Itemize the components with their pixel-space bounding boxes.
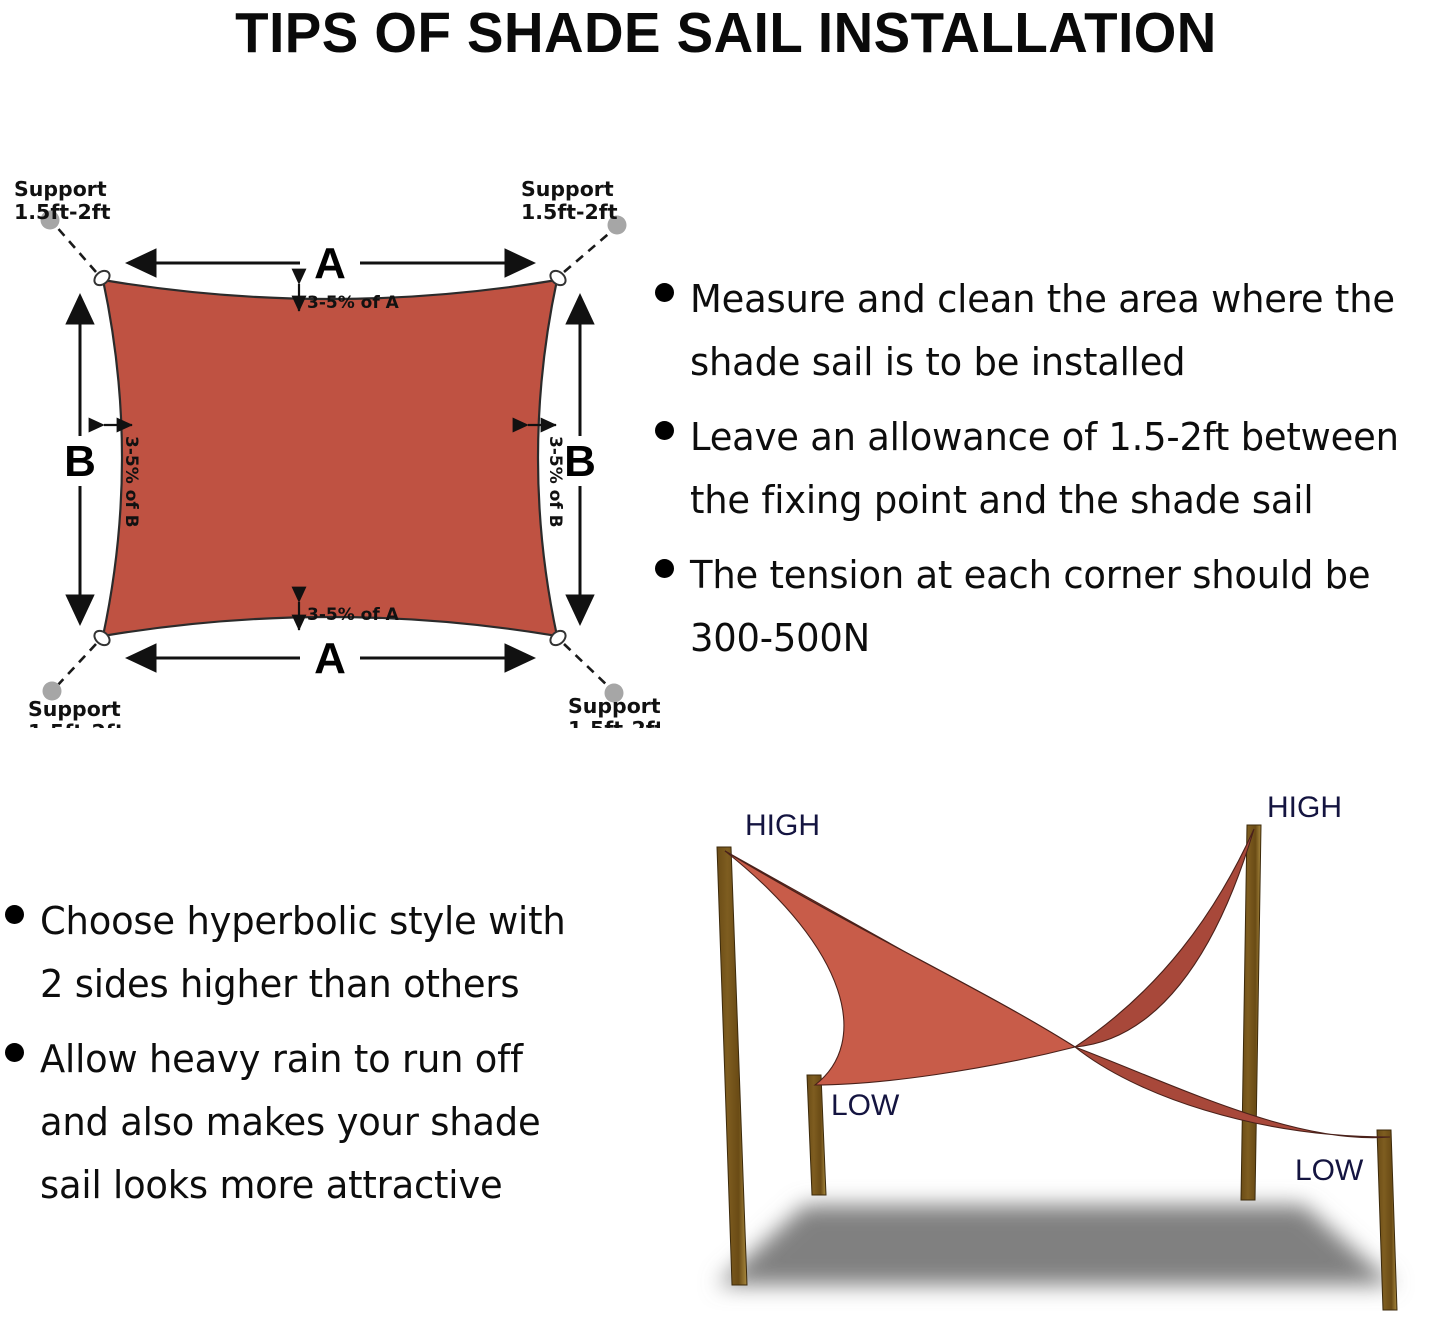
curve-label-left: 3-5% of B	[121, 436, 141, 528]
support-label-line2: 1.5ft-2ft	[28, 720, 125, 728]
ground-shadow	[717, 1205, 1395, 1285]
hyperbolic-style-tips-list: Choose hyperbolic style with 2 sides hig…	[5, 890, 635, 1229]
dimension-arrow-left-b: B	[64, 296, 96, 623]
post-rear-left	[717, 847, 747, 1285]
curve-label-right: 3-5% of B	[545, 436, 565, 528]
post-label-high-right: HIGH	[1267, 791, 1342, 824]
page-title: TIPS OF SHADE SAIL INSTALLATION	[29, 2, 1423, 64]
support-label-line1: Support	[28, 697, 121, 721]
curve-callout-bottom: 3-5% of A	[299, 602, 400, 630]
support-label-line1: Support	[568, 694, 660, 718]
hyperbolic-sail-diagram: HIGH HIGH LOW LOW	[655, 785, 1452, 1325]
dimension-label-b-left: B	[64, 437, 96, 486]
list-item-line: 300-500N	[690, 616, 870, 660]
support-label-top-right: Support 1.5ft-2ft	[521, 177, 618, 224]
support-label-top-left: Support 1.5ft-2ft	[14, 177, 111, 224]
support-label-bottom-left: Support 1.5ft-2ft	[28, 697, 125, 728]
list-item-text: Measure and clean the area where the sha…	[690, 268, 1429, 394]
sail-panel-rear	[725, 829, 1390, 1138]
list-item: The tension at each corner should be 300…	[655, 544, 1452, 670]
list-item-line: and also makes your shade	[40, 1100, 540, 1144]
list-item-line: sail looks more attractive	[40, 1163, 502, 1207]
post-label-low-left: LOW	[831, 1089, 900, 1122]
curve-label-bottom: 3-5% of A	[307, 605, 400, 625]
dimension-arrow-top-a: A	[128, 239, 533, 288]
bullet-dot-icon	[5, 1043, 24, 1062]
list-item-line: The tension at each corner should be	[690, 553, 1370, 597]
list-item-line: Choose hyperbolic style with	[40, 899, 565, 943]
rectangular-sail-diagram: Support 1.5ft-2ft Support 1.5ft-2ft Supp…	[0, 168, 660, 728]
support-label-line2: 1.5ft-2ft	[14, 200, 111, 224]
list-item: Allow heavy rain to run off and also mak…	[5, 1028, 635, 1217]
list-item-line: Measure and clean the area where the	[690, 277, 1395, 321]
list-item-line: Leave an allowance of 1.5-2ft between	[690, 415, 1399, 459]
bullet-dot-icon	[655, 421, 674, 440]
curve-callout-left: 3-5% of B	[104, 425, 141, 528]
installation-tips-list: Measure and clean the area where the sha…	[655, 268, 1452, 682]
bullet-dot-icon	[655, 559, 674, 578]
list-item-line: 2 sides higher than others	[40, 962, 519, 1006]
post-rear-right	[1241, 825, 1261, 1200]
list-item: Leave an allowance of 1.5-2ft between th…	[655, 406, 1452, 532]
support-label-line1: Support	[521, 177, 614, 201]
list-item-line: shade sail is to be installed	[690, 340, 1185, 384]
list-item: Choose hyperbolic style with 2 sides hig…	[5, 890, 635, 1016]
post-front-left	[807, 1075, 826, 1195]
dimension-label-a-bottom: A	[314, 634, 346, 683]
curve-label-top: 3-5% of A	[307, 293, 400, 313]
list-item-text: Choose hyperbolic style with 2 sides hig…	[40, 890, 617, 1016]
sail-panel-front	[725, 851, 1075, 1085]
dimension-arrow-bottom-a: A	[128, 634, 533, 683]
dimension-label-a-top: A	[314, 239, 346, 288]
dimension-label-b-right: B	[564, 437, 596, 486]
list-item-line: the fixing point and the shade sail	[690, 478, 1313, 522]
bullet-dot-icon	[5, 905, 24, 924]
support-label-line2: 1.5ft-2ft	[521, 200, 618, 224]
list-item-text: The tension at each corner should be 300…	[690, 544, 1429, 670]
post-label-high-left: HIGH	[745, 809, 820, 842]
sail-shape	[103, 280, 557, 636]
support-label-line2: 1.5ft-2ft	[568, 717, 660, 728]
curve-callout-top: 3-5% of A	[299, 284, 400, 313]
list-item-line: Allow heavy rain to run off	[40, 1037, 523, 1081]
bullet-dot-icon	[655, 283, 674, 302]
dimension-arrow-right-b: B	[564, 296, 596, 623]
list-item-text: Leave an allowance of 1.5-2ft between th…	[690, 406, 1429, 532]
list-item-text: Allow heavy rain to run off and also mak…	[40, 1028, 617, 1217]
support-label-bottom-right: Support 1.5ft-2ft	[568, 694, 660, 728]
support-label-line1: Support	[14, 177, 107, 201]
post-label-low-right: LOW	[1295, 1154, 1364, 1187]
list-item: Measure and clean the area where the sha…	[655, 268, 1452, 394]
